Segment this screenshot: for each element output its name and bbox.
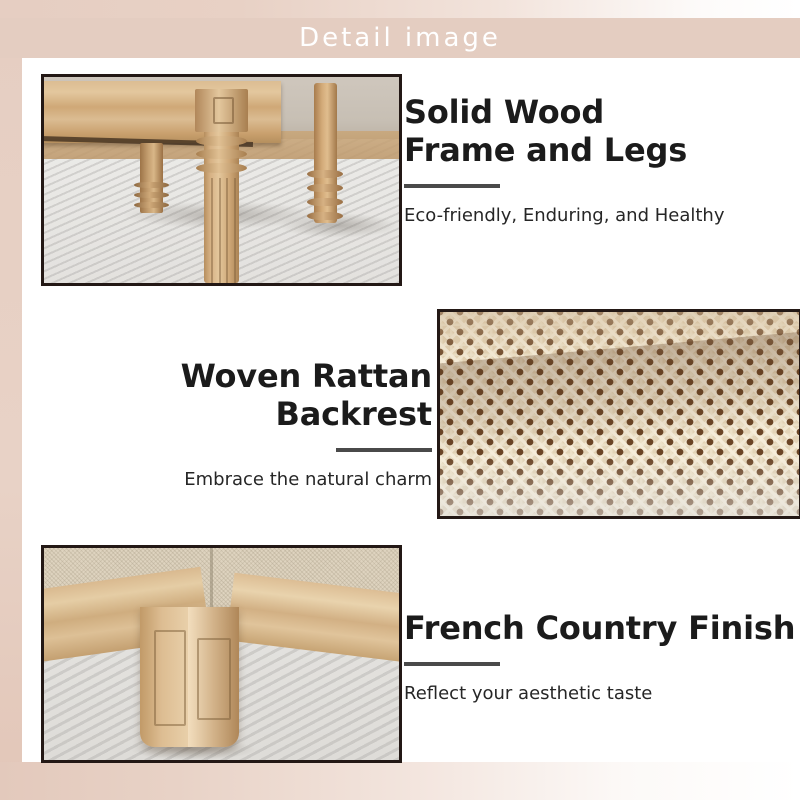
- feature-divider: [404, 184, 500, 188]
- carved-corner-post: [140, 607, 239, 747]
- feature-title: Woven Rattan Backrest: [28, 358, 432, 434]
- feature-title: Solid Wood Frame and Legs: [404, 94, 796, 170]
- feature-title-line1: Solid Wood: [404, 93, 604, 131]
- feature-text-french-country: French Country Finish Reflect your aesth…: [404, 610, 796, 705]
- photo-seat-corner: [41, 545, 402, 763]
- rattan-cane-texture: [440, 312, 799, 516]
- photo-rattan-weave: [437, 309, 800, 519]
- feature-subtitle: Reflect your aesthetic taste: [404, 682, 796, 705]
- feature-divider: [336, 448, 432, 452]
- feature-title-line2: Frame and Legs: [404, 131, 687, 169]
- detail-image-page: Detail image: [0, 0, 800, 800]
- feature-divider: [404, 662, 500, 666]
- feature-subtitle: Eco-friendly, Enduring, and Healthy: [404, 204, 796, 227]
- chair-leg-front: [204, 89, 240, 283]
- content-card: Solid Wood Frame and Legs Eco-friendly, …: [22, 58, 800, 762]
- photo-solid-wood-legs: [41, 74, 402, 286]
- decorative-left-frame: [0, 0, 22, 800]
- decorative-bottom-frame: [0, 762, 800, 800]
- feature-text-woven-rattan: Woven Rattan Backrest Embrace the natura…: [28, 358, 432, 491]
- feature-text-solid-wood: Solid Wood Frame and Legs Eco-friendly, …: [404, 94, 796, 227]
- chair-leg-right: [314, 83, 337, 223]
- header-band: Detail image: [0, 18, 800, 58]
- feature-subtitle: Embrace the natural charm: [28, 468, 432, 491]
- page-title: Detail image: [299, 25, 501, 51]
- chair-leg-back: [140, 143, 163, 213]
- feature-title: French Country Finish: [404, 610, 796, 648]
